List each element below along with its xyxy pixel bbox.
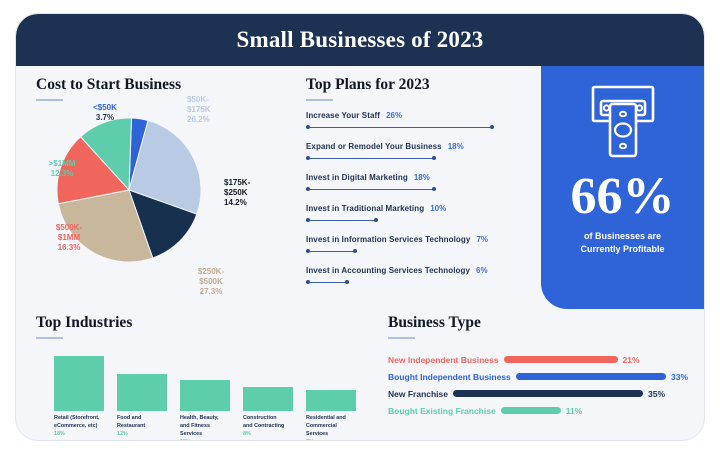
- plan-row: Invest in Information Services Technolog…: [306, 235, 538, 256]
- plan-bar-line: [306, 127, 494, 128]
- plan-label: Expand or Remodel Your Business: [306, 142, 442, 151]
- plan-bar-end-dot: [432, 156, 436, 160]
- plan-bar-line: [306, 251, 357, 252]
- business-type-row: New Franchise35%: [388, 385, 688, 402]
- industry-bar: [117, 374, 167, 411]
- plan-head: Invest in Digital Marketing18%: [306, 173, 538, 182]
- business-type-label: New Franchise: [388, 389, 448, 399]
- industry-label: Food andRestaurant12%: [117, 414, 175, 437]
- plan-bar-end-dot: [345, 280, 349, 284]
- business-type-bar: [516, 373, 666, 380]
- industry-bar-column: [117, 374, 167, 411]
- pie-label-text: $250K-: [180, 267, 242, 277]
- industry-name-line: Commercial: [306, 422, 364, 430]
- plan-label: Increase Your Staff: [306, 111, 380, 120]
- business-type-percentage: 33%: [671, 372, 688, 382]
- industry-label: Retail (Storefront,eCommerce, etc)18%: [54, 414, 112, 437]
- plan-label: Invest in Information Services Technolog…: [306, 235, 470, 244]
- business-type-percentage: 21%: [623, 355, 640, 365]
- industry-name-line: Services: [306, 430, 364, 438]
- pie-label-pct: 12.3%: [33, 169, 91, 179]
- industry-name-line: eCommerce, etc): [54, 422, 112, 430]
- industry-bar: [243, 387, 293, 411]
- industry-name-line: Food and: [117, 414, 175, 422]
- pie-label-text-2: $1MM: [40, 233, 98, 243]
- industry-bar-column: [180, 380, 230, 411]
- industry-bar-column: [306, 390, 356, 411]
- plan-row: Invest in Accounting Services Technology…: [306, 266, 538, 287]
- industry-label: Constructionand Contracting8%: [243, 414, 301, 437]
- industry-bar: [306, 390, 356, 411]
- plan-bar-track: [306, 123, 538, 132]
- plan-bar-track: [306, 216, 538, 225]
- business-type-title: Business Type: [388, 314, 688, 332]
- plan-bar-track: [306, 154, 538, 163]
- plan-percentage: 18%: [448, 142, 464, 151]
- pie-label-over-1mm: >$1MM 12.3%: [33, 159, 91, 179]
- business-type-row: New Independent Business21%: [388, 351, 688, 368]
- industry-bar-column: [54, 356, 104, 411]
- pie-label-text-2: $250K: [224, 188, 290, 198]
- infographic-poster: Small Businesses of 2023 Cost to Start B…: [16, 14, 704, 440]
- plan-percentage: 10%: [430, 204, 446, 213]
- plan-row: Increase Your Staff26%: [306, 111, 538, 132]
- pie-label-text-2: $175K: [187, 105, 247, 115]
- industry-percentage: 12%: [117, 431, 175, 437]
- industry-label: Health, Beauty,and FitnessServices10%: [180, 414, 238, 440]
- plan-bar-end-dot: [353, 249, 357, 253]
- pie-label-text: <$50K: [75, 103, 135, 113]
- plan-label: Invest in Digital Marketing: [306, 173, 408, 182]
- plan-percentage: 26%: [386, 111, 402, 120]
- pie-label-under-50k: <$50K 3.7%: [75, 103, 135, 123]
- poster-header: Small Businesses of 2023: [16, 14, 704, 66]
- plan-percentage: 7%: [476, 235, 488, 244]
- top-industries-bar-chart: [36, 351, 381, 411]
- industry-name-line: Construction: [243, 414, 301, 422]
- business-type-percentage: 35%: [648, 389, 665, 399]
- top-industries-section: Top Industries Retail (Storefront,eComme…: [36, 314, 381, 440]
- plan-bar-line: [306, 220, 378, 221]
- industry-percentage: 10%: [180, 439, 238, 440]
- industry-percentage: 18%: [54, 431, 112, 437]
- plan-bar-start-dot: [306, 125, 310, 129]
- pie-label-pct: 26.2%: [187, 115, 247, 125]
- business-type-percentage: 11%: [566, 406, 583, 416]
- industry-bar: [180, 380, 230, 411]
- heading-rule: [306, 99, 333, 101]
- industry-bar: [54, 356, 104, 411]
- caption-line-2: Currently Profitable: [580, 243, 664, 256]
- plan-bar-end-dot: [490, 125, 494, 129]
- business-type-row: Bought Independent Business33%: [388, 368, 688, 385]
- caption-line-1: of Businesses are: [580, 230, 664, 243]
- plan-row: Expand or Remodel Your Business18%: [306, 142, 538, 163]
- page-title: Small Businesses of 2023: [237, 27, 484, 53]
- plan-bar-start-dot: [306, 280, 310, 284]
- pie-label-text: $50K-: [187, 95, 247, 105]
- business-type-row: Bought Existing Franchise11%: [388, 402, 688, 419]
- pie-label-pct: 27.3%: [180, 287, 242, 297]
- plan-head: Invest in Information Services Technolog…: [306, 235, 538, 244]
- plan-bar-end-dot: [432, 187, 436, 191]
- pie-label-pct: 16.3%: [40, 243, 98, 253]
- profitability-percentage: 66%: [571, 171, 675, 223]
- business-type-section: Business Type New Independent Business21…: [388, 314, 688, 419]
- business-type-list: New Independent Business21%Bought Indepe…: [388, 351, 688, 419]
- industry-percentage: 7%: [306, 439, 364, 440]
- top-industries-labels: Retail (Storefront,eCommerce, etc)18%Foo…: [36, 414, 381, 440]
- pie-chart-wrap: <$50K 3.7% $50K- $175K 26.2% $175K- $250…: [36, 101, 298, 301]
- plan-bar-start-dot: [306, 187, 310, 191]
- business-type-bar: [501, 407, 561, 414]
- pie-label-50k-175k: $50K- $175K 26.2%: [187, 95, 247, 125]
- business-type-label: Bought Independent Business: [388, 372, 511, 382]
- heading-rule: [388, 337, 415, 339]
- industry-name-line: Retail (Storefront,: [54, 414, 112, 422]
- cost-to-start-title: Cost to Start Business: [36, 76, 298, 94]
- business-type-label: Bought Existing Franchise: [388, 406, 496, 416]
- industry-name-line: Restaurant: [117, 422, 175, 430]
- plan-bar-line: [306, 158, 436, 159]
- plan-bar-end-dot: [374, 218, 378, 222]
- plan-bar-start-dot: [306, 249, 310, 253]
- pie-label-text-2: $500K: [180, 277, 242, 287]
- plan-bar-track: [306, 247, 538, 256]
- top-plans-section: Top Plans for 2023 Increase Your Staff26…: [306, 76, 538, 287]
- plan-row: Invest in Digital Marketing18%: [306, 173, 538, 194]
- pie-label-text: $500K-: [40, 223, 98, 233]
- business-type-label: New Independent Business: [388, 355, 499, 365]
- industry-name-line: Health, Beauty,: [180, 414, 238, 422]
- plan-label: Invest in Accounting Services Technology: [306, 266, 470, 275]
- industry-name-line: and Fitness: [180, 422, 238, 430]
- pie-label-pct: 14.2%: [224, 198, 290, 208]
- plan-label: Invest in Traditional Marketing: [306, 204, 424, 213]
- pie-label-text: $175K-: [224, 178, 290, 188]
- cost-to-start-section: Cost to Start Business <$50K 3.7% $50K- …: [36, 76, 298, 301]
- plan-percentage: 6%: [476, 266, 488, 275]
- plan-bar-line: [306, 189, 436, 190]
- industry-label: Residential andCommercialServices7%: [306, 414, 364, 440]
- pie-label-pct: 3.7%: [75, 113, 135, 123]
- profitability-caption: of Businesses are Currently Profitable: [580, 230, 664, 256]
- industry-bar-column: [243, 387, 293, 411]
- top-industries-title: Top Industries: [36, 314, 381, 332]
- top-plans-list: Increase Your Staff26%Expand or Remodel …: [306, 111, 538, 287]
- business-type-bar: [453, 390, 643, 397]
- pie-label-175k-250k: $175K- $250K 14.2%: [224, 178, 290, 208]
- plan-head: Invest in Accounting Services Technology…: [306, 266, 538, 275]
- business-type-bar: [504, 356, 618, 363]
- industry-name-line: Residential and: [306, 414, 364, 422]
- plan-head: Expand or Remodel Your Business18%: [306, 142, 538, 151]
- profitability-highlight-panel: 66% of Businesses are Currently Profitab…: [541, 66, 704, 309]
- industry-name-line: and Contracting: [243, 422, 301, 430]
- plan-percentage: 18%: [414, 173, 430, 182]
- industry-name-line: Services: [180, 430, 238, 438]
- plan-bar-line: [306, 282, 349, 283]
- heading-rule: [36, 337, 63, 339]
- pie-label-text: >$1MM: [33, 159, 91, 169]
- plan-bar-start-dot: [306, 218, 310, 222]
- plan-head: Increase Your Staff26%: [306, 111, 538, 120]
- plan-bar-track: [306, 278, 538, 287]
- plan-head: Invest in Traditional Marketing10%: [306, 204, 538, 213]
- pie-label-250k-500k: $250K- $500K 27.3%: [180, 267, 242, 297]
- plan-bar-track: [306, 185, 538, 194]
- atm-cash-machine-icon: [585, 83, 661, 161]
- plan-bar-start-dot: [306, 156, 310, 160]
- top-plans-title: Top Plans for 2023: [306, 76, 538, 94]
- industry-percentage: 8%: [243, 431, 301, 437]
- plan-row: Invest in Traditional Marketing10%: [306, 204, 538, 225]
- pie-label-500k-1mm: $500K- $1MM 16.3%: [40, 223, 98, 253]
